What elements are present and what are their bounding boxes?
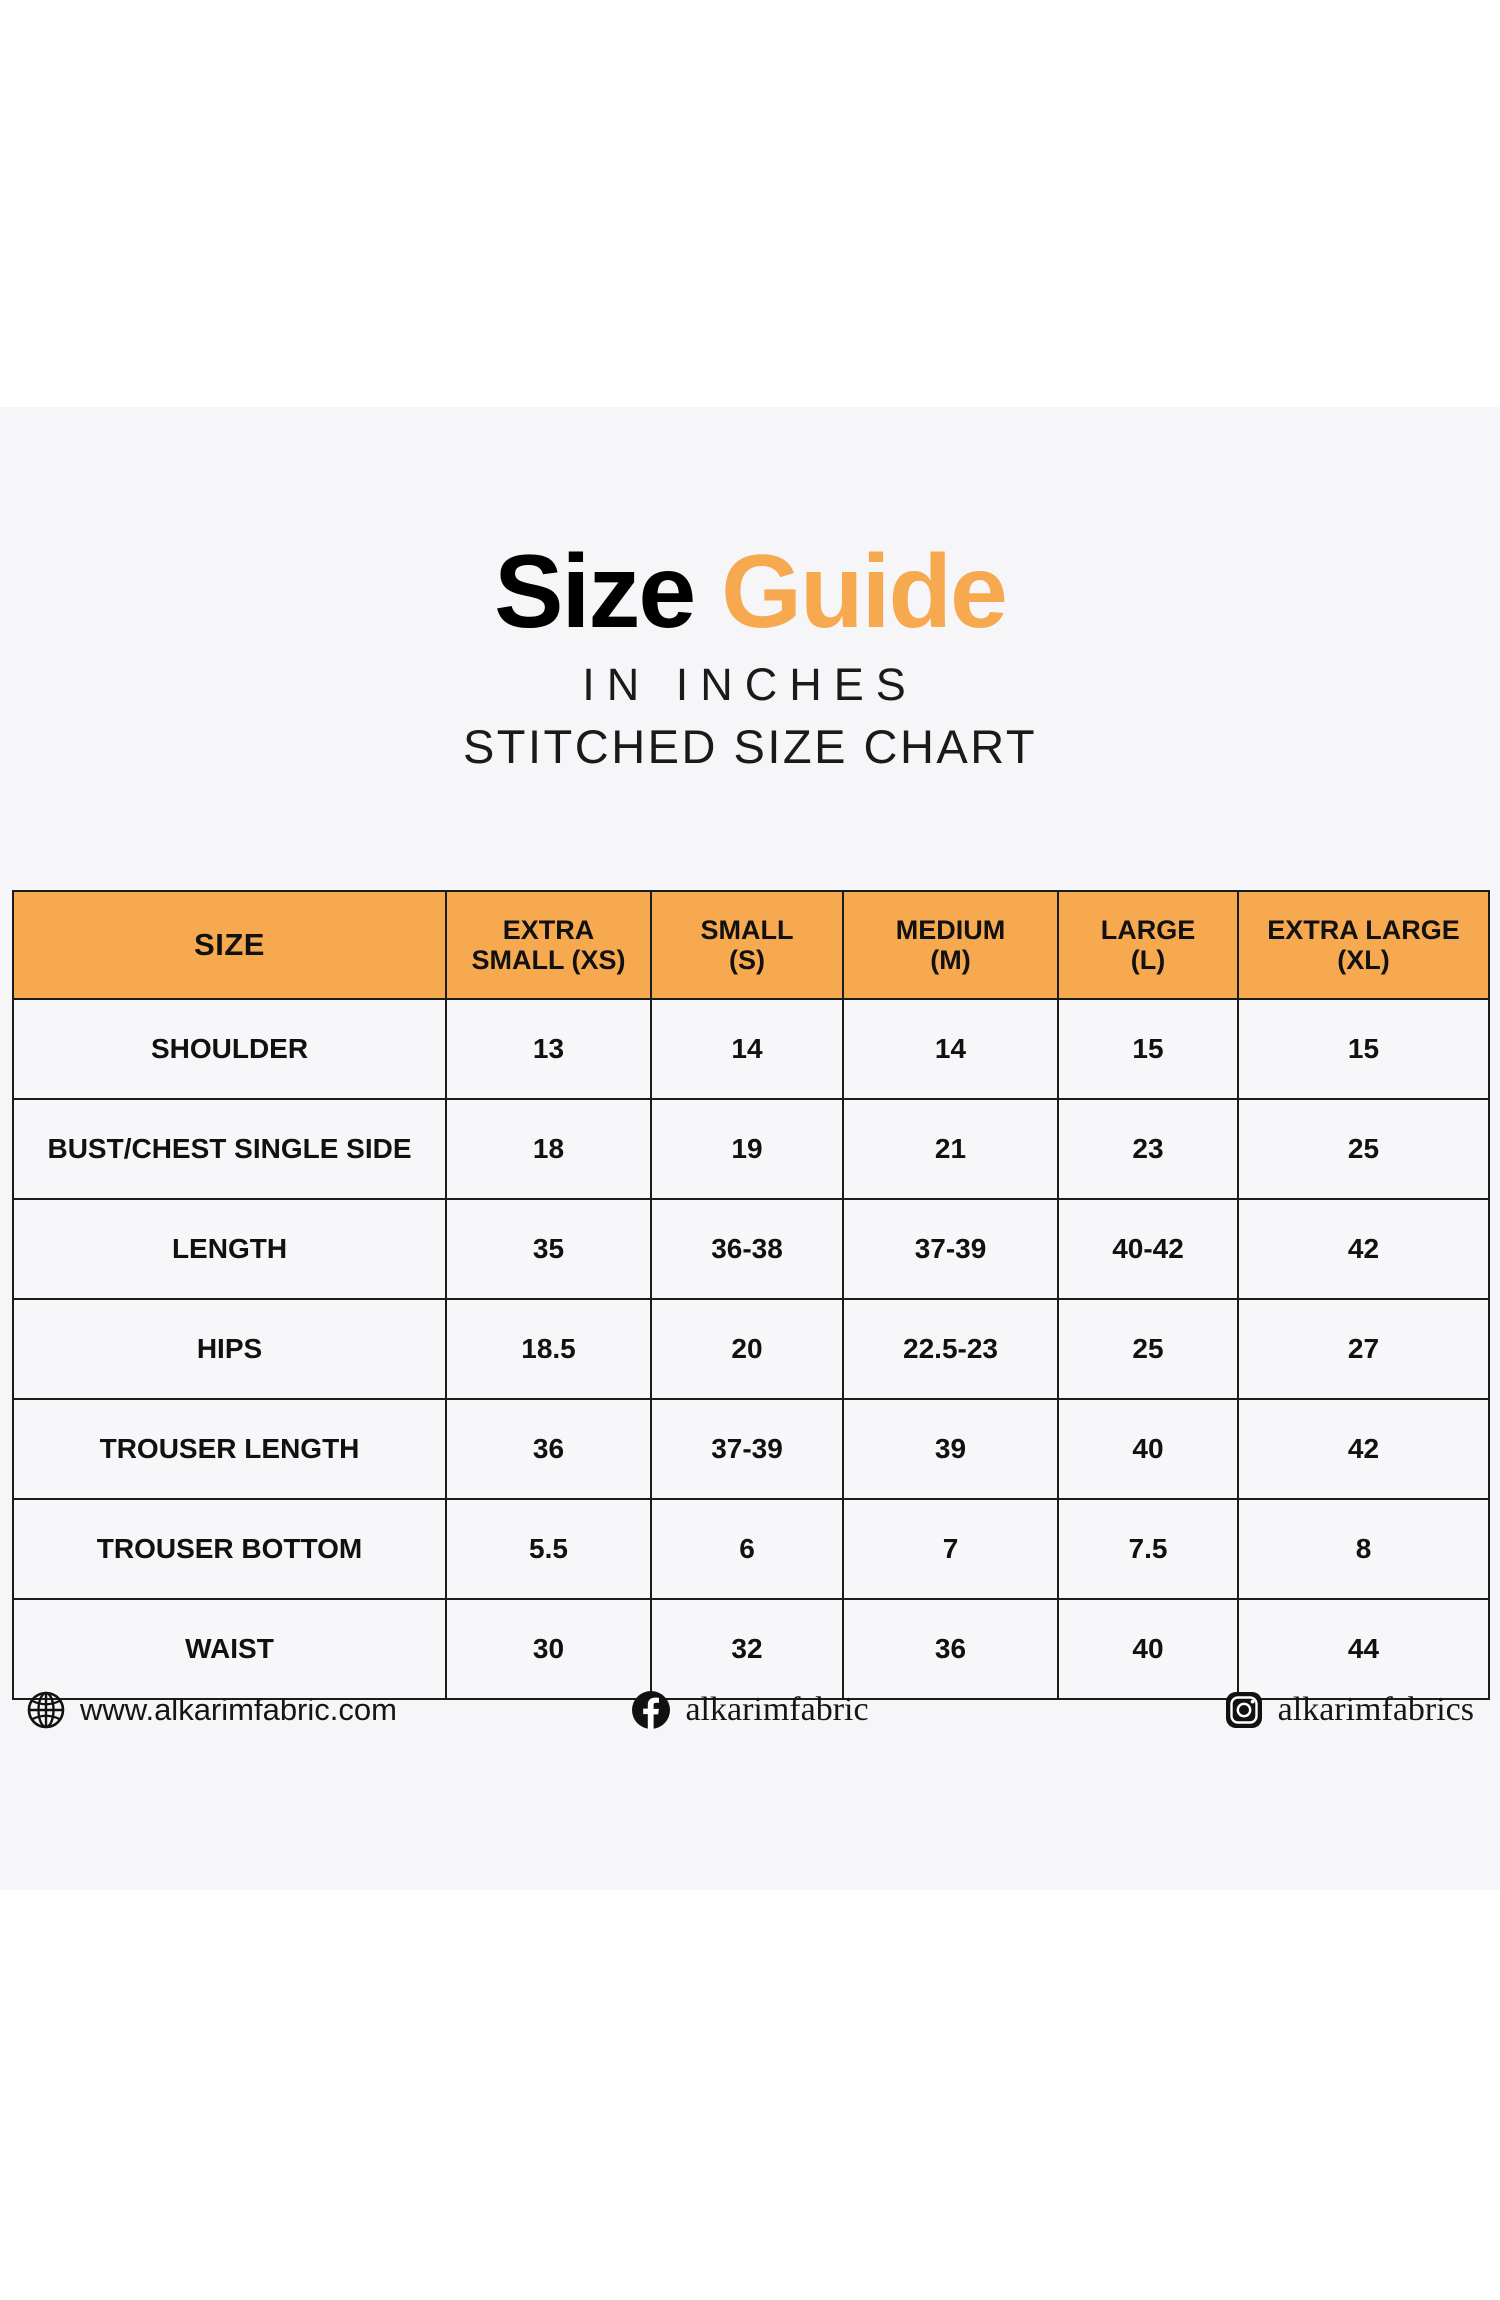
cell-trouser-bottom-xl: 8 bbox=[1238, 1499, 1489, 1599]
table-row: SHOULDER 13 14 14 15 15 bbox=[13, 999, 1489, 1099]
facebook-icon bbox=[631, 1690, 671, 1730]
column-header-xl-line1: EXTRA LARGE bbox=[1267, 915, 1460, 945]
footer-social-bar: www.alkarimfabric.com alkarimfabric alka… bbox=[12, 1690, 1488, 1730]
cell-bust-xl: 25 bbox=[1238, 1099, 1489, 1199]
cell-trouser-bottom-xs: 5.5 bbox=[446, 1499, 651, 1599]
column-header-xl-line2: (XL) bbox=[1337, 945, 1389, 975]
cell-waist-m: 36 bbox=[843, 1599, 1058, 1699]
cell-length-l: 40-42 bbox=[1058, 1199, 1238, 1299]
size-table-container: SIZE EXTRA SMALL (XS) SMALL (S) MEDIUM (… bbox=[12, 890, 1488, 1700]
instagram-icon bbox=[1224, 1690, 1264, 1730]
cell-trouser-length-l: 40 bbox=[1058, 1399, 1238, 1499]
column-header-size-line1: SIZE bbox=[194, 927, 265, 962]
cell-hips-m: 22.5-23 bbox=[843, 1299, 1058, 1399]
cell-hips-s: 20 bbox=[651, 1299, 843, 1399]
column-header-xl: EXTRA LARGE (XL) bbox=[1238, 891, 1489, 999]
cell-trouser-length-m: 39 bbox=[843, 1399, 1058, 1499]
column-header-xs-line1: EXTRA bbox=[503, 915, 595, 945]
globe-icon bbox=[26, 1690, 66, 1730]
table-header-row: SIZE EXTRA SMALL (XS) SMALL (S) MEDIUM (… bbox=[13, 891, 1489, 999]
cell-trouser-bottom-m: 7 bbox=[843, 1499, 1058, 1599]
cell-length-s: 36-38 bbox=[651, 1199, 843, 1299]
cell-length-xs: 35 bbox=[446, 1199, 651, 1299]
table-row: TROUSER BOTTOM 5.5 6 7 7.5 8 bbox=[13, 1499, 1489, 1599]
cell-hips-xl: 27 bbox=[1238, 1299, 1489, 1399]
title-word-guide: Guide bbox=[721, 534, 1006, 650]
row-label-trouser-length: TROUSER LENGTH bbox=[13, 1399, 446, 1499]
column-header-xs-line2: SMALL (XS) bbox=[472, 945, 626, 975]
table-row: LENGTH 35 36-38 37-39 40-42 42 bbox=[13, 1199, 1489, 1299]
cell-trouser-length-xs: 36 bbox=[446, 1399, 651, 1499]
page-title: Size Guide bbox=[0, 540, 1500, 644]
cell-waist-xl: 44 bbox=[1238, 1599, 1489, 1699]
table-row: WAIST 30 32 36 40 44 bbox=[13, 1599, 1489, 1699]
cell-bust-xs: 18 bbox=[446, 1099, 651, 1199]
size-guide-page: Size Guide IN INCHES STITCHED SIZE CHART… bbox=[0, 0, 1500, 2300]
table-row: TROUSER LENGTH 36 37-39 39 40 42 bbox=[13, 1399, 1489, 1499]
column-header-l-line2: (L) bbox=[1131, 945, 1165, 975]
size-table: SIZE EXTRA SMALL (XS) SMALL (S) MEDIUM (… bbox=[12, 890, 1490, 1700]
column-header-s: SMALL (S) bbox=[651, 891, 843, 999]
column-header-m-line2: (M) bbox=[930, 945, 970, 975]
row-label-length: LENGTH bbox=[13, 1199, 446, 1299]
cell-bust-s: 19 bbox=[651, 1099, 843, 1199]
cell-trouser-length-s: 37-39 bbox=[651, 1399, 843, 1499]
table-row: BUST/CHEST SINGLE SIDE 18 19 21 23 25 bbox=[13, 1099, 1489, 1199]
cell-shoulder-xs: 13 bbox=[446, 999, 651, 1099]
cell-trouser-length-xl: 42 bbox=[1238, 1399, 1489, 1499]
cell-trouser-bottom-l: 7.5 bbox=[1058, 1499, 1238, 1599]
column-header-s-line2: (S) bbox=[729, 945, 765, 975]
facebook-link[interactable]: alkarimfabric bbox=[509, 1690, 992, 1730]
cell-waist-s: 32 bbox=[651, 1599, 843, 1699]
website-link[interactable]: www.alkarimfabric.com bbox=[12, 1690, 509, 1730]
column-header-m-line1: MEDIUM bbox=[896, 915, 1006, 945]
subtitle-units: IN INCHES bbox=[0, 662, 1500, 707]
row-label-shoulder: SHOULDER bbox=[13, 999, 446, 1099]
column-header-s-line1: SMALL bbox=[701, 915, 794, 945]
column-header-xs: EXTRA SMALL (XS) bbox=[446, 891, 651, 999]
column-header-size: SIZE bbox=[13, 891, 446, 999]
cell-hips-l: 25 bbox=[1058, 1299, 1238, 1399]
cell-shoulder-xl: 15 bbox=[1238, 999, 1489, 1099]
row-label-trouser-bottom: TROUSER BOTTOM bbox=[13, 1499, 446, 1599]
row-label-waist: WAIST bbox=[13, 1599, 446, 1699]
row-label-hips: HIPS bbox=[13, 1299, 446, 1399]
cell-shoulder-l: 15 bbox=[1058, 999, 1238, 1099]
cell-bust-m: 21 bbox=[843, 1099, 1058, 1199]
website-label: www.alkarimfabric.com bbox=[80, 1692, 397, 1728]
column-header-m: MEDIUM (M) bbox=[843, 891, 1058, 999]
column-header-l: LARGE (L) bbox=[1058, 891, 1238, 999]
row-label-bust-chest: BUST/CHEST SINGLE SIDE bbox=[13, 1099, 446, 1199]
cell-shoulder-m: 14 bbox=[843, 999, 1058, 1099]
cell-trouser-bottom-s: 6 bbox=[651, 1499, 843, 1599]
table-row: HIPS 18.5 20 22.5-23 25 27 bbox=[13, 1299, 1489, 1399]
instagram-label: alkarimfabrics bbox=[1278, 1691, 1474, 1729]
cell-bust-l: 23 bbox=[1058, 1099, 1238, 1199]
title-word-size: Size bbox=[494, 534, 694, 650]
title-block: Size Guide IN INCHES STITCHED SIZE CHART bbox=[0, 540, 1500, 770]
cell-waist-xs: 30 bbox=[446, 1599, 651, 1699]
cell-shoulder-s: 14 bbox=[651, 999, 843, 1099]
cell-length-xl: 42 bbox=[1238, 1199, 1489, 1299]
cell-hips-xs: 18.5 bbox=[446, 1299, 651, 1399]
facebook-label: alkarimfabric bbox=[685, 1691, 868, 1729]
instagram-link[interactable]: alkarimfabrics bbox=[991, 1690, 1488, 1730]
subtitle-chart-type: STITCHED SIZE CHART bbox=[0, 723, 1500, 770]
column-header-l-line1: LARGE bbox=[1101, 915, 1196, 945]
cell-waist-l: 40 bbox=[1058, 1599, 1238, 1699]
cell-length-m: 37-39 bbox=[843, 1199, 1058, 1299]
